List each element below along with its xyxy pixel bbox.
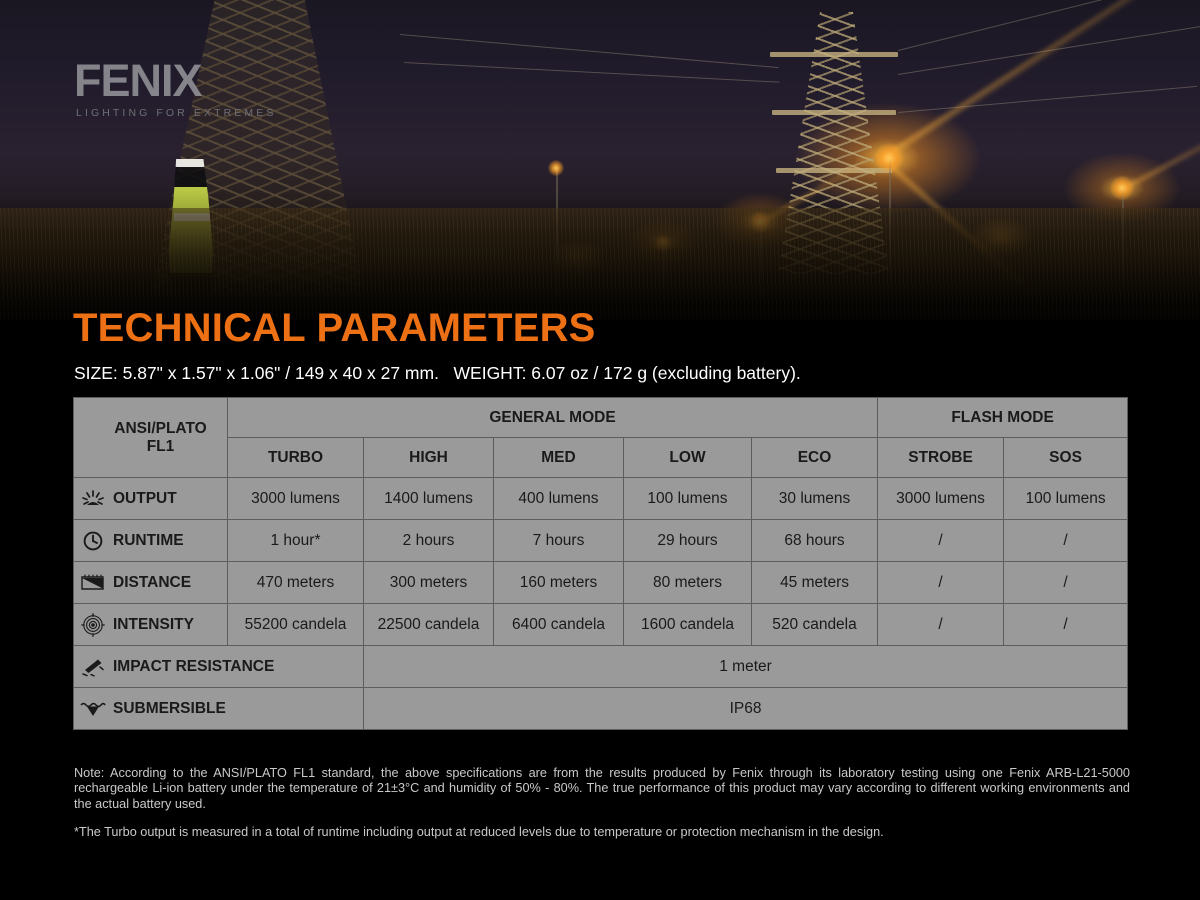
cell-intensity-high: 22500 candela <box>364 604 494 646</box>
row-label-intensity: INTENSITY <box>74 604 228 646</box>
cell-distance-sos: / <box>1004 562 1128 604</box>
row-label-distance: DISTANCE <box>74 562 228 604</box>
row-label-runtime: RUNTIME <box>74 520 228 562</box>
table-header-row-modes: TURBO HIGH MED LOW ECO STROBE SOS <box>74 438 1128 478</box>
row-label-text: OUTPUT <box>113 490 177 508</box>
clock-icon <box>80 530 106 552</box>
crossarm <box>770 52 898 57</box>
cell-output-turbo: 3000 lumens <box>228 478 364 520</box>
submersible-wave-icon <box>80 698 106 720</box>
cell-intensity-turbo: 55200 candela <box>228 604 364 646</box>
cell-intensity-strobe: / <box>878 604 1004 646</box>
cell-output-eco: 30 lumens <box>752 478 878 520</box>
corner-label-line1: ANSI/PLATO <box>114 420 206 437</box>
footnotes: Note: According to the ANSI/PLATO FL1 st… <box>74 766 1130 841</box>
cell-intensity-sos: / <box>1004 604 1128 646</box>
light-flare-beam <box>1124 130 1200 191</box>
row-label-text: RUNTIME <box>113 532 184 550</box>
cell-output-sos: 100 lumens <box>1004 478 1128 520</box>
cell-distance-med: 160 meters <box>494 562 624 604</box>
logo-wordmark: FENIX <box>74 58 276 103</box>
cell-distance-strobe: / <box>878 562 1004 604</box>
cell-distance-high: 300 meters <box>364 562 494 604</box>
row-label-submersible: SUBMERSIBLE <box>74 688 364 730</box>
row-label-text: IMPACT RESISTANCE <box>113 658 274 676</box>
cell-output-med: 400 lumens <box>494 478 624 520</box>
corner-label-line2: FL1 <box>94 438 227 456</box>
cell-output-high: 1400 lumens <box>364 478 494 520</box>
cell-intensity-low: 1600 candela <box>624 604 752 646</box>
crossarm <box>772 110 896 115</box>
header-mode-turbo: TURBO <box>228 438 364 478</box>
header-ansi-plato-fl1: ANSI/PLATO FL1 <box>74 398 228 478</box>
technical-parameters-table: ANSI/PLATO FL1 GENERAL MODE FLASH MODE T… <box>73 397 1127 730</box>
row-label-text: SUBMERSIBLE <box>113 700 226 718</box>
size-weight-line: SIZE: 5.87" x 1.57" x 1.06" / 149 x 40 x… <box>74 363 801 384</box>
lamp-glow <box>548 160 564 176</box>
table-row: SUBMERSIBLE IP68 <box>74 688 1128 730</box>
header-mode-sos: SOS <box>1004 438 1128 478</box>
page-title: TECHNICAL PARAMETERS <box>73 308 596 348</box>
note-main: Note: According to the ANSI/PLATO FL1 st… <box>74 766 1130 812</box>
header-mode-high: HIGH <box>364 438 494 478</box>
spec-sheet-page: FENIX LIGHTING FOR EXTREMES TECHNICAL PA… <box>0 0 1200 900</box>
crossarm <box>776 168 892 173</box>
cell-runtime-eco: 68 hours <box>752 520 878 562</box>
light-flare-beam <box>890 0 1171 156</box>
power-line <box>898 0 1199 51</box>
logo-tagline: LIGHTING FOR EXTREMES <box>76 107 276 119</box>
cell-distance-turbo: 470 meters <box>228 562 364 604</box>
cell-distance-eco: 45 meters <box>752 562 878 604</box>
row-label-output: OUTPUT <box>74 478 228 520</box>
header-mode-low: LOW <box>624 438 752 478</box>
beam-distance-icon <box>80 572 106 594</box>
cell-impact-resistance-value: 1 meter <box>364 646 1128 688</box>
cell-runtime-turbo: 1 hour* <box>228 520 364 562</box>
cell-runtime-strobe: / <box>878 520 1004 562</box>
table-row: RUNTIME 1 hour* 2 hours 7 hours 29 hours… <box>74 520 1128 562</box>
row-label-impact-resistance: IMPACT RESISTANCE <box>74 646 364 688</box>
lamp-glow <box>874 143 904 173</box>
table-row: OUTPUT 3000 lumens 1400 lumens 400 lumen… <box>74 478 1128 520</box>
power-line <box>404 62 780 83</box>
cell-intensity-med: 6400 candela <box>494 604 624 646</box>
header-general-mode: GENERAL MODE <box>228 398 878 438</box>
cell-output-strobe: 3000 lumens <box>878 478 1004 520</box>
row-label-text: INTENSITY <box>113 616 194 634</box>
row-label-text: DISTANCE <box>113 574 191 592</box>
fenix-logo: FENIX LIGHTING FOR EXTREMES <box>74 58 276 119</box>
sunburst-icon <box>80 488 106 510</box>
photo-fade-overlay <box>0 190 1200 380</box>
cell-runtime-low: 29 hours <box>624 520 752 562</box>
power-line <box>898 86 1197 113</box>
header-mode-eco: ECO <box>752 438 878 478</box>
table-row: DISTANCE 470 meters 300 meters 160 meter… <box>74 562 1128 604</box>
table-header-row-groups: ANSI/PLATO FL1 GENERAL MODE FLASH MODE <box>74 398 1128 438</box>
cell-runtime-sos: / <box>1004 520 1128 562</box>
table-row: INTENSITY 55200 candela 22500 candela 64… <box>74 604 1128 646</box>
header-flash-mode: FLASH MODE <box>878 398 1128 438</box>
impact-hammer-icon <box>80 656 106 678</box>
target-intensity-icon <box>80 614 106 636</box>
cell-runtime-med: 7 hours <box>494 520 624 562</box>
header-mode-med: MED <box>494 438 624 478</box>
header-mode-strobe: STROBE <box>878 438 1004 478</box>
cell-runtime-high: 2 hours <box>364 520 494 562</box>
power-line <box>400 34 779 68</box>
cell-intensity-eco: 520 candela <box>752 604 878 646</box>
note-asterisk: *The Turbo output is measured in a total… <box>74 825 1130 840</box>
cell-distance-low: 80 meters <box>624 562 752 604</box>
cell-output-low: 100 lumens <box>624 478 752 520</box>
cell-submersible-value: IP68 <box>364 688 1128 730</box>
table-row: IMPACT RESISTANCE 1 meter <box>74 646 1128 688</box>
